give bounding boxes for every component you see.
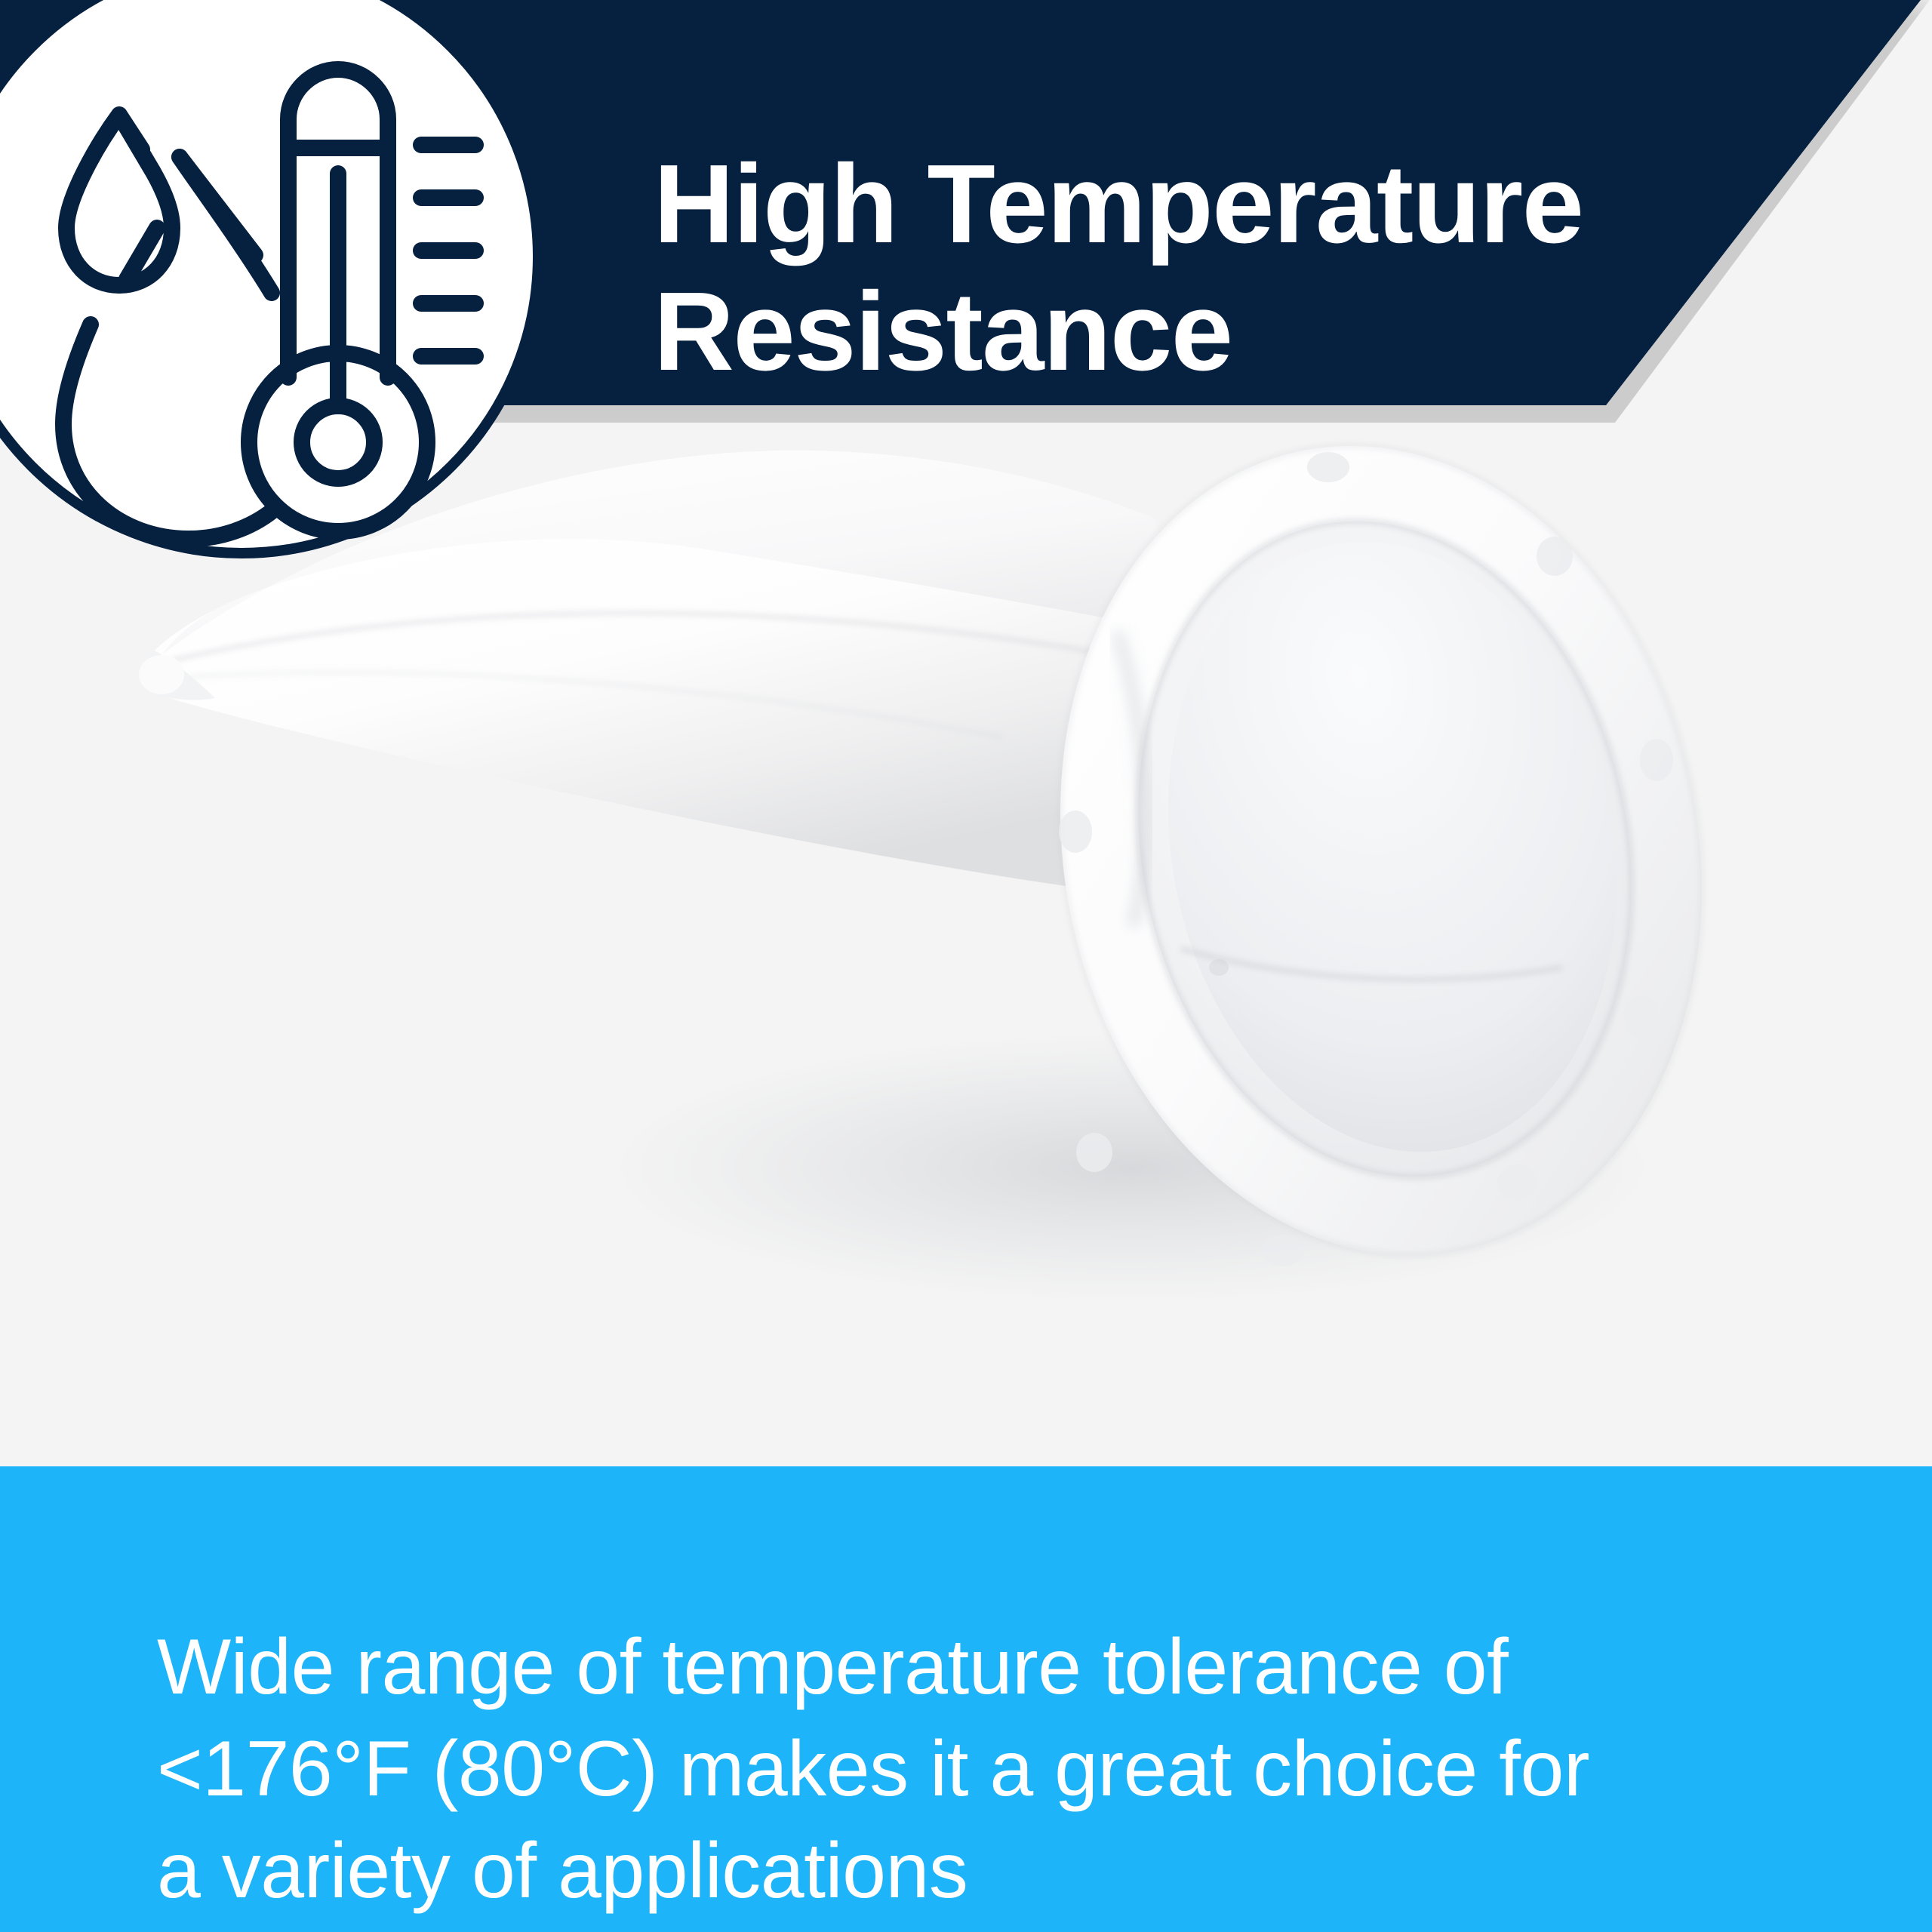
water-drop-thermometer-icon bbox=[0, 0, 543, 558]
large-droplet-right-edge bbox=[180, 157, 272, 293]
page-title: High Temperature Resistance bbox=[654, 141, 1635, 395]
caption-text: Wide range of temperature tolerance of <… bbox=[157, 1617, 1802, 1923]
small-droplet bbox=[66, 115, 172, 285]
infographic-canvas: High Temperature Resistance bbox=[0, 0, 1932, 1932]
thermometer-bulb-inner bbox=[302, 406, 374, 478]
thermometer-scale-ticks bbox=[421, 145, 475, 356]
caption-band: Wide range of temperature tolerance of <… bbox=[0, 1466, 1932, 1932]
feature-icon-badge bbox=[0, 0, 589, 604]
